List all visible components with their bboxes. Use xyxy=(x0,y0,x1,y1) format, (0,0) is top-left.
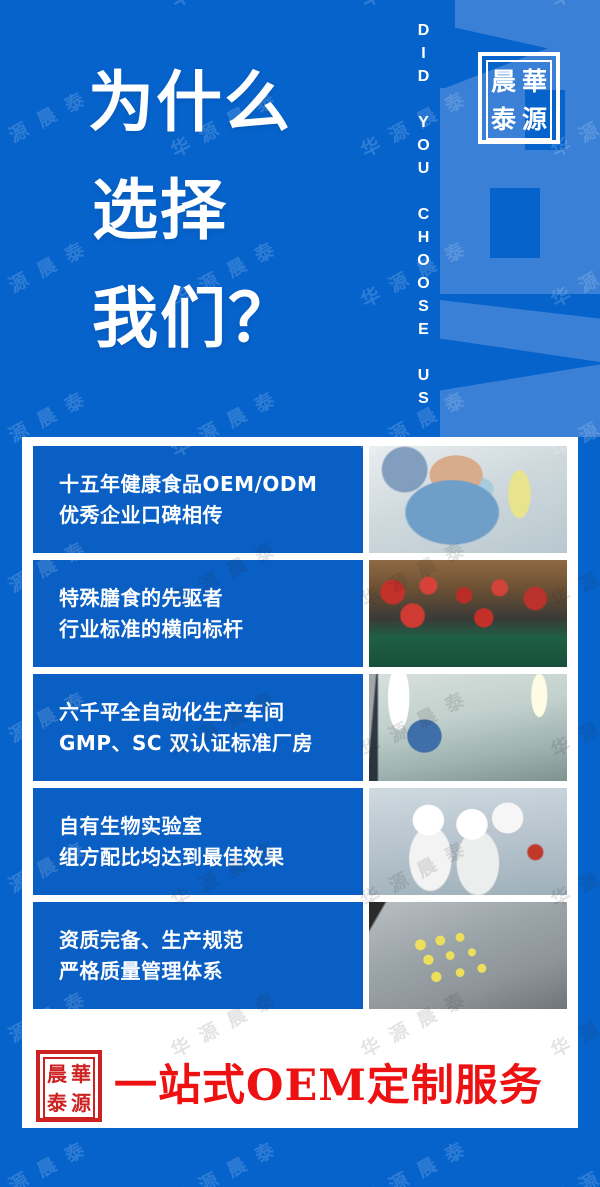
feature-card-text: 特殊膳食的先驱者 行业标准的横向标杆 xyxy=(33,560,363,667)
watermark-text: 华 源 晨 泰 xyxy=(546,1134,600,1187)
feature-line-1: 资质完备、生产规范 xyxy=(59,925,363,956)
feature-line-1: 特殊膳食的先驱者 xyxy=(59,583,363,614)
seal-char-1: 晨 xyxy=(488,62,519,100)
title-line-2: 选择 xyxy=(88,156,388,264)
feature-card[interactable]: 十五年健康食品OEM/ODM 优秀企业口碑相传 xyxy=(33,446,567,553)
feature-photo-packaging-line xyxy=(369,788,567,895)
page-title: 为什么 选择 我们？ xyxy=(88,48,388,372)
feature-photo-lab xyxy=(369,446,567,553)
feature-card[interactable]: 特殊膳食的先驱者 行业标准的横向标杆 xyxy=(33,560,567,667)
watermark-text: 华 源 晨 泰 xyxy=(166,1134,282,1187)
seal-char-2: 華 xyxy=(519,62,550,100)
feature-photo-conference xyxy=(369,560,567,667)
title-line-1: 为什么 xyxy=(88,48,388,156)
feature-line-2: 严格质量管理体系 xyxy=(59,956,363,987)
feature-line-2: GMP、SC 双认证标准厂房 xyxy=(59,728,363,759)
brand-seal-white-icon: 晨 華 泰 源 xyxy=(478,52,560,144)
seal-char-1: 晨 xyxy=(45,1059,69,1088)
feature-line-1: 自有生物实验室 xyxy=(59,811,363,842)
feature-card-list: 十五年健康食品OEM/ODM 优秀企业口碑相传 特殊膳食的先驱者 行业标准的横向… xyxy=(33,446,567,1016)
feature-line-2: 组方配比均达到最佳效果 xyxy=(59,842,363,873)
poster-root: 为什么 选择 我们？ DID YOU CHOOSE US 晨 華 泰 源 十五年… xyxy=(0,0,600,1187)
seal-char-3: 泰 xyxy=(488,100,519,138)
feature-photo-workshop xyxy=(369,674,567,781)
feature-card-text: 六千平全自动化生产车间 GMP、SC 双认证标准厂房 xyxy=(33,674,363,781)
watermark-text: 华 源 晨 泰 xyxy=(356,1134,472,1187)
seal-char-3: 泰 xyxy=(45,1088,69,1117)
seal-char-4: 源 xyxy=(519,100,550,138)
feature-photo-blister-press xyxy=(369,902,567,1009)
feature-card-text: 十五年健康食品OEM/ODM 优秀企业口碑相传 xyxy=(33,446,363,553)
feature-line-2: 行业标准的横向标杆 xyxy=(59,614,363,645)
seal-char-4: 源 xyxy=(69,1088,93,1117)
feature-line-2: 优秀企业口碑相传 xyxy=(59,500,363,531)
brand-seal-red-icon: 晨 華 泰 源 xyxy=(36,1050,102,1122)
feature-card[interactable]: 六千平全自动化生产车间 GMP、SC 双认证标准厂房 xyxy=(33,674,567,781)
seal-char-2: 華 xyxy=(69,1059,93,1088)
feature-line-1: 十五年健康食品OEM/ODM xyxy=(59,469,363,500)
cta-banner[interactable]: 晨 華 泰 源 一站式OEM定制服务 xyxy=(22,1044,578,1128)
cta-banner-text: 一站式OEM定制服务 xyxy=(114,1065,543,1108)
feature-card[interactable]: 自有生物实验室 组方配比均达到最佳效果 xyxy=(33,788,567,895)
title-line-3: 我们？ xyxy=(88,264,388,372)
watermark-text: 华 源 晨 泰 xyxy=(0,1134,91,1187)
feature-card-text: 资质完备、生产规范 严格质量管理体系 xyxy=(33,902,363,1009)
content-panel: 十五年健康食品OEM/ODM 优秀企业口碑相传 特殊膳食的先驱者 行业标准的横向… xyxy=(22,437,578,1128)
feature-line-1: 六千平全自动化生产车间 xyxy=(59,697,363,728)
feature-card[interactable]: 资质完备、生产规范 严格质量管理体系 xyxy=(33,902,567,1009)
feature-card-text: 自有生物实验室 组方配比均达到最佳效果 xyxy=(33,788,363,895)
vertical-subtitle: DID YOU CHOOSE US xyxy=(415,22,431,422)
